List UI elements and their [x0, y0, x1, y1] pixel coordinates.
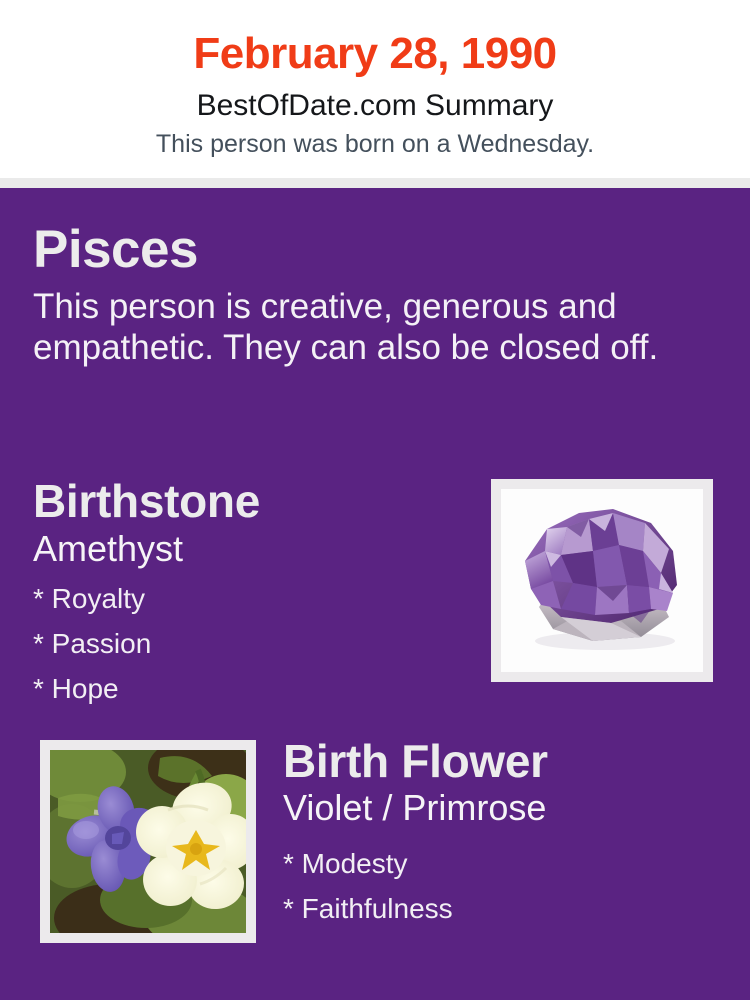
birthstone-photo: [501, 489, 703, 672]
birth-flower-name: Violet / Primrose: [283, 787, 733, 829]
list-item: * Modesty: [283, 841, 733, 886]
content-panel: Pisces This person is creative, generous…: [0, 188, 750, 1000]
birth-flower-section: Birth Flower Violet / Primrose * Modesty…: [283, 735, 733, 931]
birth-weekday-note: This person was born on a Wednesday.: [0, 124, 750, 159]
page-title-date: February 28, 1990: [0, 0, 750, 80]
header: February 28, 1990 BestOfDate.com Summary…: [0, 0, 750, 178]
birthstone-trait-list: * Royalty * Passion * Hope: [33, 570, 473, 711]
zodiac-section: Pisces This person is creative, generous…: [33, 220, 713, 368]
birthstone-section: Birthstone Amethyst * Royalty * Passion …: [33, 475, 473, 711]
list-item: * Passion: [33, 621, 473, 666]
header-divider: [0, 178, 750, 188]
list-item: * Royalty: [33, 576, 473, 621]
birthstone-name: Amethyst: [33, 527, 473, 570]
list-item: * Hope: [33, 666, 473, 711]
birthstone-photo-frame: [491, 479, 713, 682]
bestofdate-summary-card: February 28, 1990 BestOfDate.com Summary…: [0, 0, 750, 1000]
zodiac-description: This person is creative, generous and em…: [33, 280, 698, 368]
birth-flower-trait-list: * Modesty * Faithfulness: [283, 829, 733, 931]
birthstone-heading: Birthstone: [33, 475, 473, 527]
list-item: * Faithfulness: [283, 886, 733, 931]
birth-flower-heading: Birth Flower: [283, 735, 733, 787]
birth-flower-photo: [50, 750, 246, 933]
amethyst-illustration: [501, 489, 703, 672]
zodiac-sign-title: Pisces: [33, 220, 713, 280]
violet-primrose-image: [50, 750, 246, 933]
amethyst-crystal-image: [501, 489, 703, 672]
birth-flower-photo-frame: [40, 740, 256, 943]
site-name-subtitle: BestOfDate.com Summary: [0, 80, 750, 124]
flower-illustration: [50, 750, 246, 933]
